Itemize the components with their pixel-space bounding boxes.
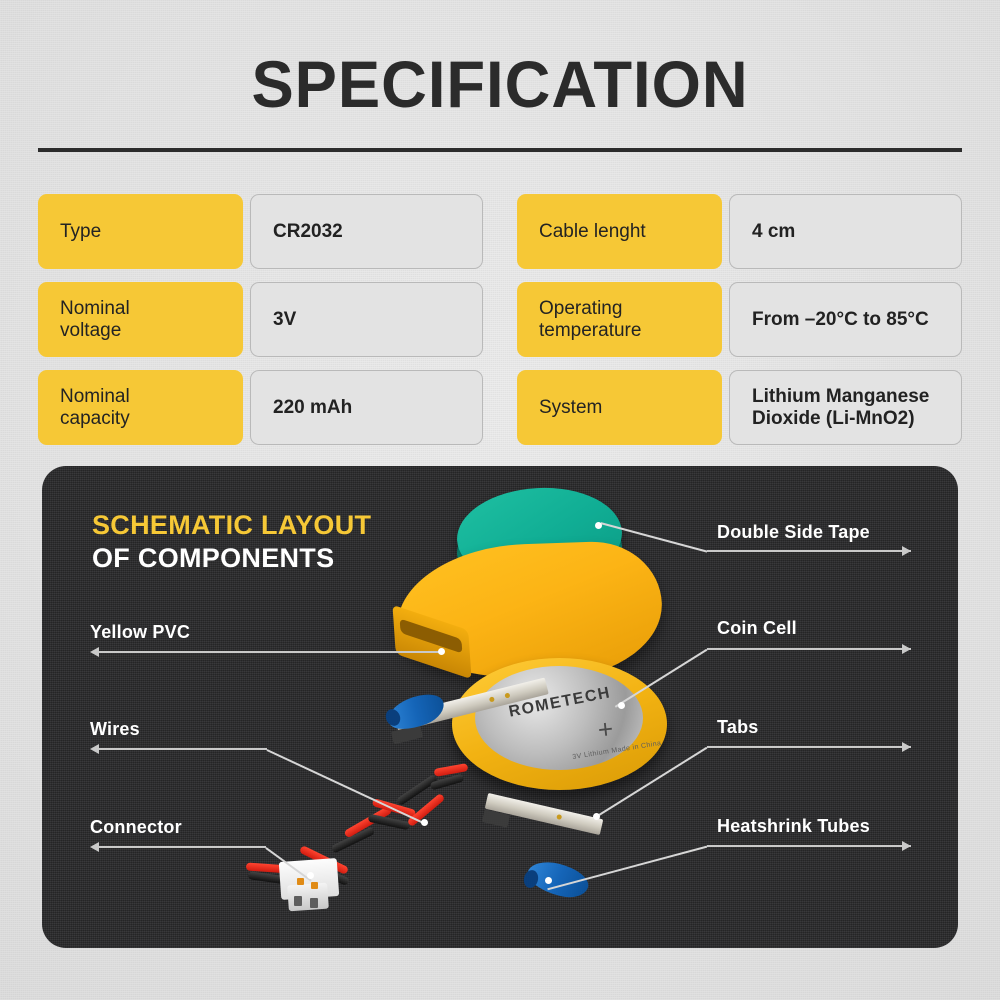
callout-leader-line bbox=[707, 550, 911, 552]
callout-label: Wires bbox=[90, 719, 140, 740]
callout-label: Coin Cell bbox=[717, 618, 797, 639]
spec-value: From –20°C to 85°C bbox=[729, 282, 962, 357]
callout-anchor-dot bbox=[595, 522, 602, 529]
callout-anchor-dot bbox=[421, 819, 428, 826]
spec-value-line1: From –20°C to 85°C bbox=[752, 309, 929, 330]
callout-leader-line bbox=[707, 845, 911, 847]
spec-key: Cable lenght bbox=[517, 194, 722, 269]
schematic-heading: SCHEMATIC LAYOUT OF COMPONENTS bbox=[92, 509, 371, 575]
spec-key-line1: Nominal bbox=[60, 386, 130, 407]
spec-key-line1: Nominal bbox=[60, 298, 130, 319]
callout-label: Tabs bbox=[717, 717, 758, 738]
callout-leader-line bbox=[99, 846, 266, 848]
schematic-heading-line1: SCHEMATIC LAYOUT bbox=[92, 509, 371, 542]
wire-red-segment bbox=[434, 763, 469, 777]
callout-anchor-dot bbox=[618, 702, 625, 709]
callout-arrow-icon bbox=[902, 546, 911, 556]
jst-connector-slot bbox=[310, 898, 318, 908]
table-row: Type CR2032 bbox=[38, 194, 483, 269]
spec-key: Nominal capacity bbox=[38, 370, 243, 445]
wire-black-segment bbox=[368, 814, 411, 831]
callout-arrow-icon bbox=[902, 841, 911, 851]
spec-key-line2: capacity bbox=[60, 408, 130, 429]
callout-leader-line bbox=[99, 651, 441, 653]
spec-value-line1: 4 cm bbox=[752, 221, 795, 242]
spec-key: Operating temperature bbox=[517, 282, 722, 357]
callout-leader-line bbox=[99, 748, 267, 750]
schematic-panel: SCHEMATIC LAYOUT OF COMPONENTS ROMETECH … bbox=[42, 466, 958, 948]
coin-cell-polarity-mark: + bbox=[596, 713, 614, 745]
schematic-heading-line2: OF COMPONENTS bbox=[92, 542, 371, 575]
tab-rivet bbox=[489, 696, 495, 702]
spec-key-line2: voltage bbox=[60, 320, 121, 341]
jst-connector-slot bbox=[294, 896, 302, 906]
spec-value: 220 mAh bbox=[250, 370, 483, 445]
page-background: SPECIFICATION Type CR2032 Cable lenght 4… bbox=[0, 0, 1000, 1000]
page-title: SPECIFICATION bbox=[20, 48, 980, 120]
callout-leader-line bbox=[707, 746, 911, 748]
spec-value: CR2032 bbox=[250, 194, 483, 269]
callout-anchor-dot bbox=[593, 813, 600, 820]
specification-table: Type CR2032 Cable lenght 4 cm Nomina bbox=[38, 194, 962, 445]
spec-key-line2: temperature bbox=[539, 320, 641, 341]
table-row: Cable lenght 4 cm bbox=[517, 194, 962, 269]
spec-key-line1: Cable lenght bbox=[539, 221, 646, 242]
callout-arrow-icon bbox=[90, 744, 99, 754]
callout-arrow-icon bbox=[90, 842, 99, 852]
title-divider bbox=[38, 148, 962, 152]
table-row: Nominal capacity 220 mAh bbox=[38, 370, 483, 445]
callout-arrow-icon bbox=[902, 742, 911, 752]
callout-label: Connector bbox=[90, 817, 182, 838]
callout-anchor-dot bbox=[438, 648, 445, 655]
callout-label: Double Side Tape bbox=[717, 522, 870, 543]
spec-value-line1: Lithium Manganese bbox=[752, 386, 929, 407]
spec-value: 3V bbox=[250, 282, 483, 357]
tab-rivet bbox=[556, 814, 562, 820]
spec-value-line2: Dioxide (Li-MnO2) bbox=[752, 408, 915, 429]
table-row: System Lithium Manganese Dioxide (Li-MnO… bbox=[517, 370, 962, 445]
spec-key: Nominal voltage bbox=[38, 282, 243, 357]
table-row: Operating temperature From –20°C to 85°C bbox=[517, 282, 962, 357]
spec-key-line1: System bbox=[539, 397, 602, 418]
callout-leader-line bbox=[707, 648, 911, 650]
jst-connector-pin bbox=[311, 882, 318, 889]
spec-value: 4 cm bbox=[729, 194, 962, 269]
spec-key-line1: Type bbox=[60, 221, 101, 242]
callout-anchor-dot bbox=[545, 877, 552, 884]
callout-label: Heatshrink Tubes bbox=[717, 816, 870, 837]
spec-key-line1: Operating bbox=[539, 298, 622, 319]
table-row: Nominal voltage 3V bbox=[38, 282, 483, 357]
spec-key: Type bbox=[38, 194, 243, 269]
spec-key: System bbox=[517, 370, 722, 445]
callout-arrow-icon bbox=[902, 644, 911, 654]
callout-anchor-dot bbox=[307, 872, 314, 879]
spec-value: Lithium Manganese Dioxide (Li-MnO2) bbox=[729, 370, 962, 445]
tab-rivet bbox=[504, 693, 510, 699]
callout-label: Yellow PVC bbox=[90, 622, 190, 643]
callout-arrow-icon bbox=[90, 647, 99, 657]
jst-connector-pin bbox=[297, 878, 304, 885]
